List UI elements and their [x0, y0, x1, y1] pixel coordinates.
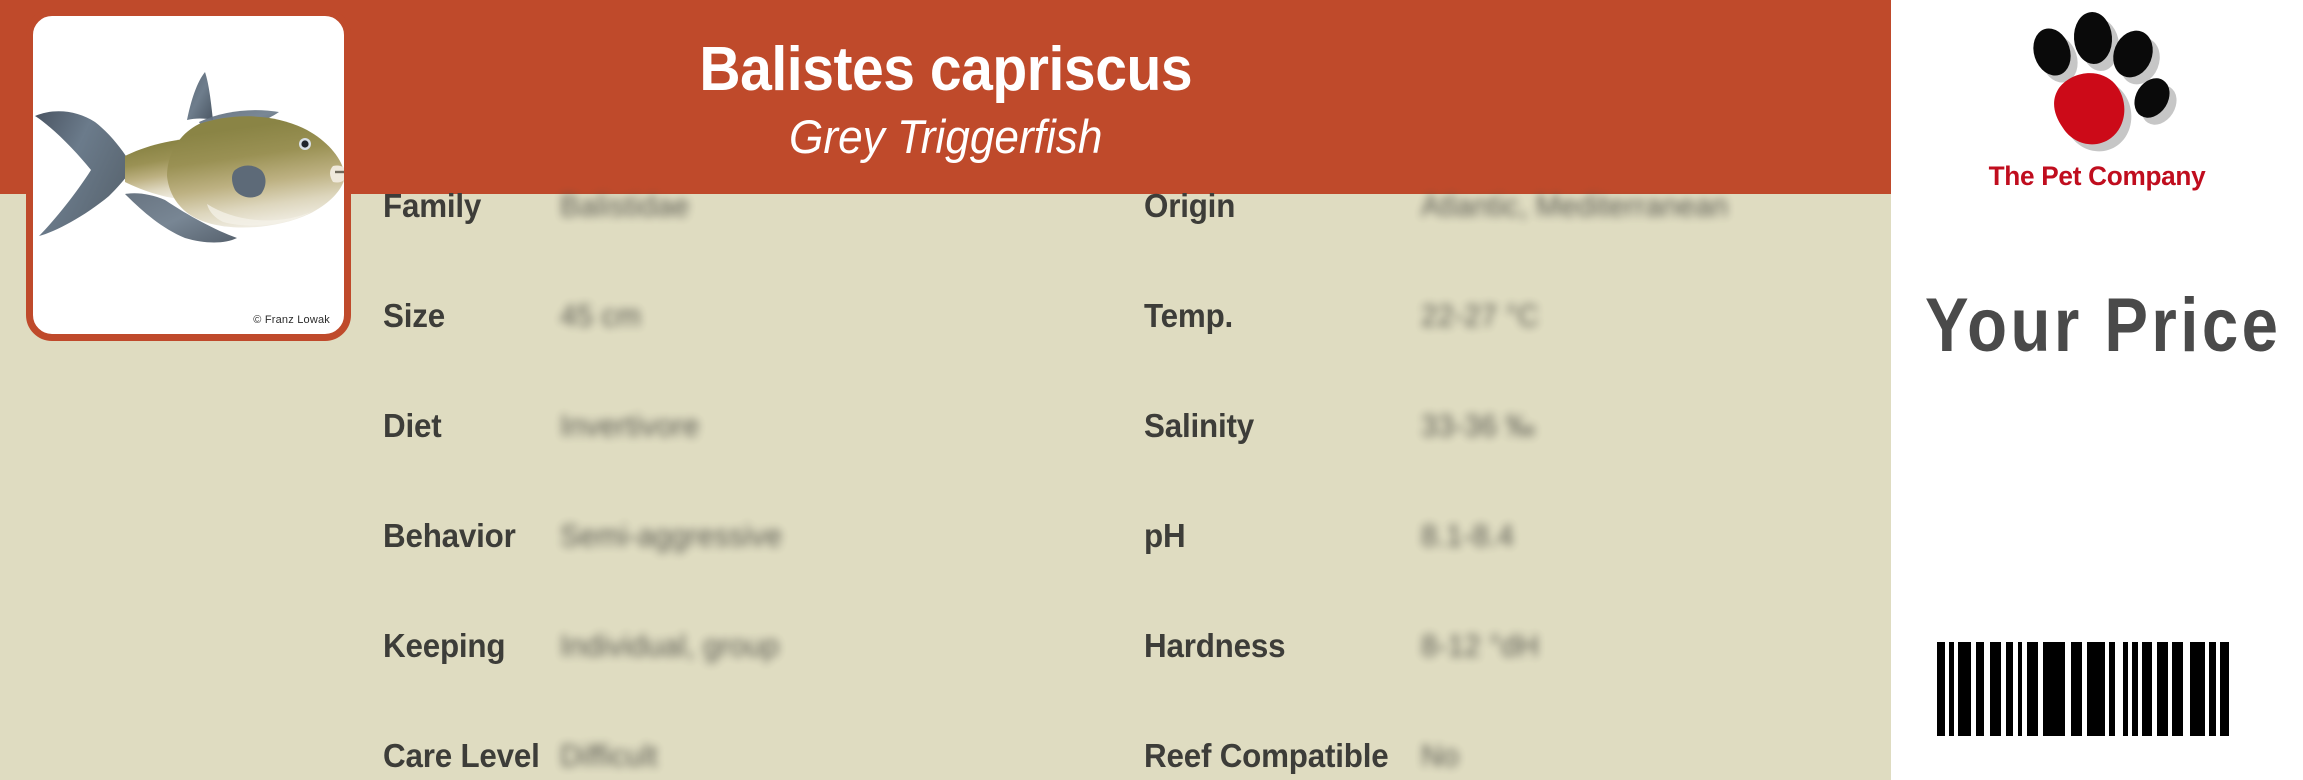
barcode-bar — [2027, 642, 2038, 736]
brand-logo: The Pet Company — [1891, 6, 2303, 211]
barcode-bar — [2209, 642, 2216, 736]
spec-row-size: Size45 cm — [383, 286, 448, 346]
spec-label: Salinity — [1144, 407, 1254, 445]
spec-value: 8-12 °dH — [1421, 628, 1539, 664]
spec-row-temp: Temp.22-27 °C — [1144, 286, 1238, 346]
spec-row-ph: pH8.1-8.4 — [1144, 506, 1188, 566]
spec-value: 22-27 °C — [1421, 298, 1539, 334]
barcode-bar — [2190, 642, 2205, 736]
spec-label: Care Level — [383, 737, 540, 775]
barcode-space — [2115, 642, 2123, 736]
spec-row-salinity: Salinity33-36 ‰ — [1144, 396, 1260, 456]
scientific-name: Balistes capriscus — [699, 39, 1192, 101]
fish-snout — [330, 165, 344, 182]
barcode-bar — [2006, 642, 2013, 736]
spec-row-family: FamilyBalistidae — [383, 176, 486, 236]
spec-row-behavior: BehaviorSemi-aggressive — [383, 506, 523, 566]
spec-value: 45 cm — [560, 298, 641, 334]
barcode-bar — [2087, 642, 2105, 736]
spec-value: Semi-aggressive — [560, 518, 782, 554]
barcode-bar — [1976, 642, 1984, 736]
spec-label: Temp. — [1144, 297, 1233, 335]
price-panel: The Pet Company Your Price — [1891, 0, 2303, 780]
spec-label: Hardness — [1144, 627, 1285, 665]
barcode-bar — [2071, 642, 2082, 736]
spec-row-reef-compatible: Reef CompatibleNo — [1144, 726, 1401, 780]
spec-label: Keeping — [383, 627, 505, 665]
spec-value: 33-36 ‰ — [1421, 408, 1535, 444]
spec-value: No — [1421, 738, 1459, 774]
spec-value: Balistidae — [560, 188, 690, 224]
fish-species-price-label: Balistes capriscus Grey Triggerfish — [0, 0, 2303, 780]
fish-eye — [301, 140, 308, 147]
spec-value: 8.1-8.4 — [1421, 518, 1514, 554]
paw-print-icon — [1997, 10, 2197, 160]
barcode-space — [2183, 642, 2190, 736]
barcode-bar — [2157, 642, 2168, 736]
spec-value: Invertivore — [560, 408, 700, 444]
spec-row-hardness: Hardness8-12 °dH — [1144, 616, 1293, 676]
spec-row-keeping: KeepingIndividual, group — [383, 616, 512, 676]
paw-pad — [2054, 73, 2124, 144]
spec-value: Individual, group — [560, 628, 779, 664]
brand-name: The Pet Company — [1897, 161, 2297, 192]
spec-column-right: OriginAtlantic, MediterraneanTemp.22-27 … — [1144, 194, 1891, 780]
spec-label: pH — [1144, 517, 1185, 555]
spec-column-left: FamilyBalistidaeSize45 cmDietInvertivore… — [383, 194, 1143, 780]
barcode-bar — [2142, 642, 2152, 736]
spec-row-diet: DietInvertivore — [383, 396, 445, 456]
barcode-bar — [2220, 642, 2229, 736]
barcode-bar — [1990, 642, 2001, 736]
barcode-bar — [1958, 642, 1971, 736]
barcode-bar — [2172, 642, 2183, 736]
barcode — [1937, 642, 2229, 736]
spec-row-origin: OriginAtlantic, Mediterranean — [1144, 176, 1240, 236]
barcode-bar — [2043, 642, 2065, 736]
spec-table: FamilyBalistidaeSize45 cmDietInvertivore… — [0, 194, 1891, 780]
spec-label: Diet — [383, 407, 441, 445]
price-heading: Your Price — [1925, 288, 2281, 364]
barcode-bar — [1937, 642, 1945, 736]
spec-label: Behavior — [383, 517, 516, 555]
common-name: Grey Triggerfish — [789, 113, 1102, 160]
spec-label: Size — [383, 297, 445, 335]
spec-label: Reef Compatible — [1144, 737, 1389, 775]
spec-label: Origin — [1144, 187, 1235, 225]
spec-value: Difficult — [560, 738, 658, 774]
spec-value: Atlantic, Mediterranean — [1421, 188, 1728, 224]
spec-label: Family — [383, 187, 481, 225]
species-info-panel: Balistes capriscus Grey Triggerfish — [0, 0, 1891, 780]
spec-row-care-level: Care LevelDifficult — [383, 726, 548, 780]
fish-dorsal-spine — [187, 72, 213, 120]
